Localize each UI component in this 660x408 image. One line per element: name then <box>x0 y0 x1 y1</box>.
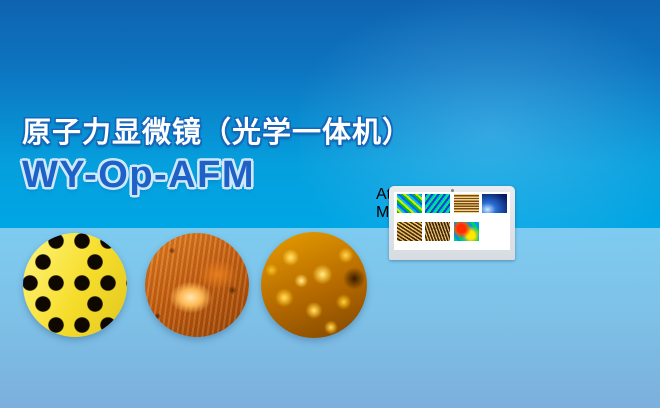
scan-image <box>482 194 507 213</box>
scan-thumbnail <box>453 194 480 220</box>
scan-thumbnail <box>481 222 508 248</box>
scan-thumbnail <box>424 222 451 248</box>
scan-caption <box>453 241 480 248</box>
scan-thumbnail <box>396 194 423 220</box>
afm-workstation: Atomic Force Microscope AFM <box>376 186 528 314</box>
granular-texture <box>261 232 367 338</box>
scan-image <box>397 222 422 241</box>
headline-block: 原子力显微镜（光学一体机） WY-Op-AFM <box>22 118 412 194</box>
scan-image <box>425 222 450 241</box>
scan-thumbnail <box>396 222 423 248</box>
scan-image <box>454 194 479 213</box>
model-name: WY-Op-AFM <box>22 156 412 194</box>
product-banner: 原子力显微镜（光学一体机） WY-Op-AFM <box>0 0 660 408</box>
pore-lattice-texture <box>23 233 127 337</box>
scan-image <box>397 194 422 213</box>
afm-sample-image-surface-topography <box>145 233 249 337</box>
scan-caption <box>481 213 508 220</box>
scan-caption <box>424 213 451 220</box>
scan-thumbnail <box>453 222 480 248</box>
scan-caption <box>396 241 423 248</box>
scan-image <box>425 194 450 213</box>
scan-caption <box>453 213 480 220</box>
scan-thumbnail <box>424 194 451 220</box>
scan-image <box>454 222 479 241</box>
topography-texture <box>145 233 249 337</box>
scan-image <box>482 222 507 241</box>
scan-caption <box>424 241 451 248</box>
scan-caption <box>396 213 423 220</box>
laptop-screen <box>394 192 510 250</box>
laptop-lid <box>389 186 515 260</box>
afm-sample-image-granular-film <box>261 232 367 338</box>
page-title: 原子力显微镜（光学一体机） <box>22 118 412 148</box>
scan-thumbnail <box>481 194 508 220</box>
afm-sample-image-nanoporous-membrane <box>23 233 127 337</box>
scan-caption <box>481 241 508 248</box>
